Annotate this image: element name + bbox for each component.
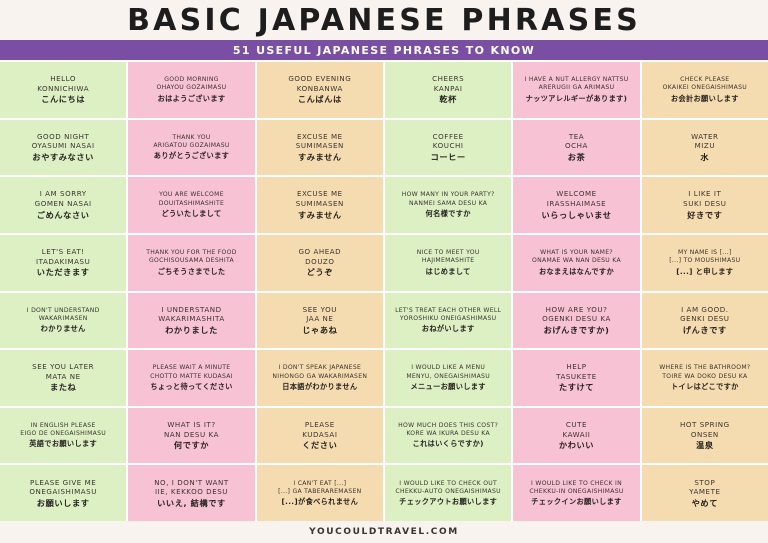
phrase-cell: STOPYAMETEやめて [642,465,768,521]
phrase-japanese: げんきです [683,325,727,336]
phrase-japanese: チェックアウトお願いします [399,497,497,507]
phrase-romaji: MENYU, ONEGAISHIMASU [406,373,490,381]
phrase-english: STOP [694,478,715,488]
phrase-cell: COFFEEKOUCHIコーヒー [385,120,511,176]
phrase-japanese: [...] と申します [676,267,733,277]
phrase-romaji: KAWAII [563,430,591,440]
phrase-cell: WELCOMEIRASSHAIMASEいらっしゃいませ [513,177,639,233]
phrase-romaji: CHEKKU-IN ONEGAISHIMASU [529,488,623,496]
phrase-romaji: EIGO DE ONEGAISHIMASU [20,430,106,438]
phrase-english: I UNDERSTAND [161,305,221,315]
phrase-cell: HOW MANY IN YOUR PARTY?NANMEI SAMA DESU … [385,177,511,233]
phrase-romaji: SUKI DESU [683,199,726,209]
phrase-cell: LET'S TREAT EACH OTHER WELLYOROSHIKU ONE… [385,293,511,349]
phrase-romaji: YOROSHIKU ONEIGASHIMASU [400,315,497,323]
phrase-romaji: SUMIMASEN [296,199,344,209]
phrase-cell: PLEASE WAIT A MINUTECHOTTO MATTE KUDASAI… [128,350,254,406]
phrase-japanese: ごめんなさい [37,210,90,221]
phrase-japanese: どういたしまして [161,209,221,219]
phrase-english: THANK YOU [172,134,210,142]
page-title: BASIC JAPANESE PHRASES [127,3,641,38]
phrase-english: GOOD EVENING [288,74,351,84]
phrase-cell: PLEASEKUDASAIください [257,408,383,464]
phrase-romaji: OYASUMI NASAI [32,141,95,151]
phrase-japanese: 乾杯 [439,94,457,105]
phrase-japanese: お茶 [568,152,586,163]
phrase-romaji: NANMEI SAMA DESU KA [409,200,487,208]
phrase-romaji: WAKARIMASHITA [158,314,225,324]
phrase-cell: I AM SORRYGOMEN NASAIごめんなさい [0,177,126,233]
phrase-english: NICE TO MEET YOU [417,249,480,257]
phrase-cell: THANK YOUARIGATOU GOZAIMASUありがとうございます [128,120,254,176]
phrase-english: WELCOME [556,189,596,199]
phrase-romaji: IIE, KEKKOO DESU [155,487,228,497]
phrase-cell: NICE TO MEET YOUHAJIMEMASHITEはじめまして [385,235,511,291]
phrase-cell: CHECK PLEASEOKAIKEI ONEGAISHIMASUお会計お願いし… [642,62,768,118]
page-subtitle: 51 USEFUL JAPANESE PHRASES TO KNOW [233,44,535,57]
phrase-cell: CHEERSKANPAI乾杯 [385,62,511,118]
phrase-romaji: GOCHISOUSAMA DESHITA [149,257,234,265]
phrase-english: HELP [566,362,586,372]
phrase-romaji: CHEKKU-AUTO ONEGAISHIMASU [395,488,501,496]
footer-site-credit: YOUCOULDTRAVEL.COM [309,527,459,537]
phrase-romaji: GENKI DESU [680,314,729,324]
phrase-romaji: KONBANWA [297,84,343,94]
phrase-japanese: 英語でお願いします [29,439,97,449]
phrase-romaji: ARERUGII GA ARIMASU [539,84,615,92]
phrase-english: SEE YOU LATER [32,362,94,372]
phrase-japanese: メニューお願いします [410,382,485,392]
phrase-japanese: お願いします [37,498,90,509]
phrase-japanese: これはいくらですか) [413,439,484,449]
phrase-japanese: おげんきですか) [544,325,610,336]
phrase-romaji: OCHA [565,141,588,151]
phrase-cell: HOT SPRINGONSEN温泉 [642,408,768,464]
phrase-cell: I CAN'T EAT [...][...] GA TABERAREMASEN[… [257,465,383,521]
phrase-cell: GOOD NIGHTOYASUMI NASAIおやすみなさい [0,120,126,176]
phrase-grid: HELLOKONNICHIWAこんにちはGOOD MORNINGOHAYOU G… [0,60,768,521]
phrase-japanese: ください [302,440,337,451]
phrase-cell: WHAT IS IT?NAN DESU KA何ですか [128,408,254,464]
phrase-english: I LIKE IT [688,189,721,199]
phrase-english: PLEASE WAIT A MINUTE [153,364,231,372]
phrase-romaji: [...] TO MOUSHIMASU [669,257,740,265]
phrase-japanese: チェックインお願いします [531,497,621,507]
phrase-romaji: NIHONGO GA WAKARIMASEN [272,373,367,381]
phrase-romaji: DOUZO [305,257,334,267]
phrase-japanese: どうぞ [307,267,333,278]
phrase-japanese: おねがいします [422,324,475,334]
phrase-romaji: MIZU [695,141,715,151]
phrase-english: THANK YOU FOR THE FOOD [146,249,237,257]
phrase-romaji: GOMEN NASAI [35,199,92,209]
phrase-cell: EXCUSE MESUMIMASENすみません [257,120,383,176]
phrase-english: WHERE IS THE BATHROOM? [659,364,750,372]
phrase-japanese: 何名様ですか [426,209,471,219]
phrase-english: HOT SPRING [680,420,730,430]
phrase-cell: THANK YOU FOR THE FOODGOCHISOUSAMA DESHI… [128,235,254,291]
phrase-english: I WOULD LIKE TO CHECK OUT [399,480,497,488]
phrase-cell: SEE YOU LATERMATA NEまたね [0,350,126,406]
phrase-english: SEE YOU [303,305,337,315]
phrase-cell: MY NAME IS [...][...] TO MOUSHIMASU[...]… [642,235,768,291]
phrase-romaji: KOUCHI [433,141,464,151]
phrase-english: I HAVE A NUT ALLERGY NATTSU [525,76,629,84]
phrase-english: CHECK PLEASE [680,76,729,84]
phrase-cell: I WOULD LIKE TO CHECK OUTCHEKKU-AUTO ONE… [385,465,511,521]
phrase-japanese: じゃあね [302,325,337,336]
phrase-cell: WHAT IS YOUR NAME?ONAMAE WA NAN DESU KAお… [513,235,639,291]
phrase-english: NO, I DON'T WANT [154,478,229,488]
phrase-english: I DON'T UNDERSTAND [27,307,100,315]
phrase-romaji: KUDASAI [302,430,337,440]
phrase-cell: I HAVE A NUT ALLERGY NATTSUARERUGII GA A… [513,62,639,118]
phrase-english: MY NAME IS [...] [678,249,732,257]
phrase-romaji: ONSEN [691,430,719,440]
phrase-cell: I DON'T SPEAK JAPANESENIHONGO GA WAKARIM… [257,350,383,406]
phrase-cell: YOU ARE WELCOMEDOUITASHIMASHITEどういたしまして [128,177,254,233]
phrase-japanese: お会計お願いします [671,94,739,104]
phrase-japanese: やめて [692,498,718,509]
phrase-english: COFFEE [433,132,464,142]
phrase-romaji: OKAIKEI ONEGAISHIMASU [663,84,747,92]
phrase-cell: CUTEKAWAIIかわいい [513,408,639,464]
phrase-english: EXCUSE ME [297,189,343,199]
phrase-japanese: コーヒー [431,152,466,163]
phrase-japanese: いいえ, 結構です [157,498,226,509]
phrase-romaji: NAN DESU KA [164,430,219,440]
phrase-romaji: TASUKETE [556,372,597,382]
phrase-japanese: いただきます [37,267,90,278]
phrase-cell: HOW ARE YOU?OGENKI DESU KAおげんきですか) [513,293,639,349]
phrase-cell: LET'S EAT!ITADAKIMASUいただきます [0,235,126,291]
phrase-japanese: はじめまして [426,267,471,277]
phrase-cell: WATERMIZU水 [642,120,768,176]
phrase-japanese: こんばんは [298,94,342,105]
phrase-romaji: HAJIMEMASHITE [422,257,475,265]
phrase-romaji: DOUITASHIMASHITE [159,200,224,208]
phrase-japanese: わかりません [41,324,86,334]
phrase-cell: PLEASE GIVE MEONEGAISHIMASUお願いします [0,465,126,521]
phrase-romaji: MATA NE [46,372,81,382]
phrase-japanese: かわいい [559,440,594,451]
phrase-english: HELLO [50,74,76,84]
phrase-japanese: ちょっと待ってください [150,382,232,392]
phrase-japanese: おはようございます [158,94,226,104]
phrase-english: PLEASE GIVE ME [30,478,96,488]
phrase-cell: I AM GOOD.GENKI DESUげんきです [642,293,768,349]
phrase-romaji: KONNICHIWA [37,84,89,94]
phrase-japanese: すみません [298,210,342,221]
phrase-english: CUTE [566,420,587,430]
phrase-cell: GOOD MORNINGOHAYOU GOZAIMASUおはようございます [128,62,254,118]
phrase-english: I WOULD LIKE TO CHECK IN [531,480,622,488]
phrase-japanese: またね [50,382,76,393]
phrase-cell: GO AHEADDOUZOどうぞ [257,235,383,291]
phrase-english: HOW MANY IN YOUR PARTY? [402,191,495,199]
phrase-romaji: ARIGATOU GOZAIMASU [153,142,229,150]
phrase-english: GOOD MORNING [164,76,218,84]
phrase-japanese: 何ですか [174,440,209,451]
phrase-romaji: CHOTTO MATTE KUDASAI [150,373,233,381]
phrase-japanese: いらっしゃいませ [541,210,611,221]
subtitle-banner: 51 USEFUL JAPANESE PHRASES TO KNOW [0,40,768,60]
phrase-cell: HELPTASUKETEたすけて [513,350,639,406]
phrase-english: WHAT IS IT? [167,420,215,430]
phrase-english: PLEASE [305,420,335,430]
phrase-romaji: OHAYOU GOZAIMASU [157,84,227,92]
phrase-cell: I WOULD LIKE A MENUMENYU, ONEGAISHIMASUメ… [385,350,511,406]
phrase-romaji: WAKARIMASEN [39,315,88,323]
phrase-cell: NO, I DON'T WANTIIE, KEKKOO DESUいいえ, 結構で… [128,465,254,521]
phrase-english: WHAT IS YOUR NAME? [540,249,613,257]
phrase-japanese: 日本語がわかりません [282,382,357,392]
phrase-romaji: YAMETE [689,487,720,497]
phrase-japanese: 温泉 [696,440,714,451]
phrase-cell: I LIKE ITSUKI DESU好きです [642,177,768,233]
phrase-english: TEA [569,132,584,142]
phrase-english: HOW ARE YOU? [546,305,608,315]
phrase-english: I AM GOOD. [681,305,728,315]
phrase-cell: WHERE IS THE BATHROOM?TOIRE WA DOKO DESU… [642,350,768,406]
phrase-cell: SEE YOUJAA NEじゃあね [257,293,383,349]
phrase-cell: TEAOCHAお茶 [513,120,639,176]
phrase-japanese: すみません [298,152,342,163]
phrase-romaji: SUMIMASEN [296,141,344,151]
phrase-english: LET'S EAT! [42,247,85,257]
phrase-english: I DON'T SPEAK JAPANESE [279,364,362,372]
phrase-romaji: TOIRE WA DOKO DESU KA [662,373,747,381]
phrase-japanese: 水 [700,152,709,163]
phrase-japanese: たすけて [559,382,594,393]
phrase-cell: I DON'T UNDERSTANDWAKARIMASENわかりません [0,293,126,349]
phrase-english: GO AHEAD [298,247,341,257]
infographic-page: BASIC JAPANESE PHRASES 51 USEFUL JAPANES… [0,0,768,543]
footer-bar: YOUCOULDTRAVEL.COM [0,521,768,543]
phrase-japanese: こんにちは [41,94,85,105]
phrase-cell: I WOULD LIKE TO CHECK INCHEKKU-IN ONEGAI… [513,465,639,521]
phrase-cell: HELLOKONNICHIWAこんにちは [0,62,126,118]
phrase-romaji: KANPAI [434,84,463,94]
phrase-japanese: [...]が食べられません [282,497,359,507]
phrase-english: CHEERS [432,74,464,84]
phrase-romaji: OGENKI DESU KA [542,314,611,324]
phrase-english: WATER [691,132,718,142]
phrase-japanese: おなまえはなんですか [539,267,614,277]
phrase-japanese: ごちそうさまでした [158,267,226,277]
phrase-english: GOOD NIGHT [37,132,89,142]
phrase-japanese: わかりました [165,325,218,336]
phrase-english: YOU ARE WELCOME [159,191,224,199]
phrase-japanese: ありがとうございます [154,151,229,161]
phrase-cell: GOOD EVENINGKONBANWAこんばんは [257,62,383,118]
phrase-romaji: [...] GA TABERAREMASEN [278,488,361,496]
phrase-cell: HOW MUCH DOES THIS COST?KORE WA IKURA DE… [385,408,511,464]
phrase-romaji: ONEGAISHIMASU [29,487,97,497]
phrase-romaji: IRASSHAIMASE [547,199,606,209]
phrase-english: I CAN'T EAT [...] [293,480,346,488]
phrase-english: IN ENGLISH PLEASE [31,422,96,430]
phrase-romaji: ITADAKIMASU [36,257,90,267]
phrase-japanese: ナッツアレルギーがあります) [526,94,628,104]
phrase-english: HOW MUCH DOES THIS COST? [398,422,498,430]
phrase-japanese: 好きです [687,210,722,221]
phrase-english: I AM SORRY [40,189,87,199]
phrase-romaji: ONAMAE WA NAN DESU KA [532,257,621,265]
phrase-english: LET'S TREAT EACH OTHER WELL [395,307,501,315]
phrase-romaji: JAA NE [306,314,333,324]
phrase-japanese: おやすみなさい [32,152,94,163]
phrase-cell: IN ENGLISH PLEASEEIGO DE ONEGAISHIMASU英語… [0,408,126,464]
phrase-romaji: KORE WA IKURA DESU KA [406,430,490,438]
phrase-japanese: トイレはどこですか [671,382,739,392]
phrase-cell: I UNDERSTANDWAKARIMASHITAわかりました [128,293,254,349]
phrase-english: EXCUSE ME [297,132,343,142]
title-bar: BASIC JAPANESE PHRASES [0,0,768,40]
phrase-cell: EXCUSE MESUMIMASENすみません [257,177,383,233]
phrase-english: I WOULD LIKE A MENU [411,364,485,372]
